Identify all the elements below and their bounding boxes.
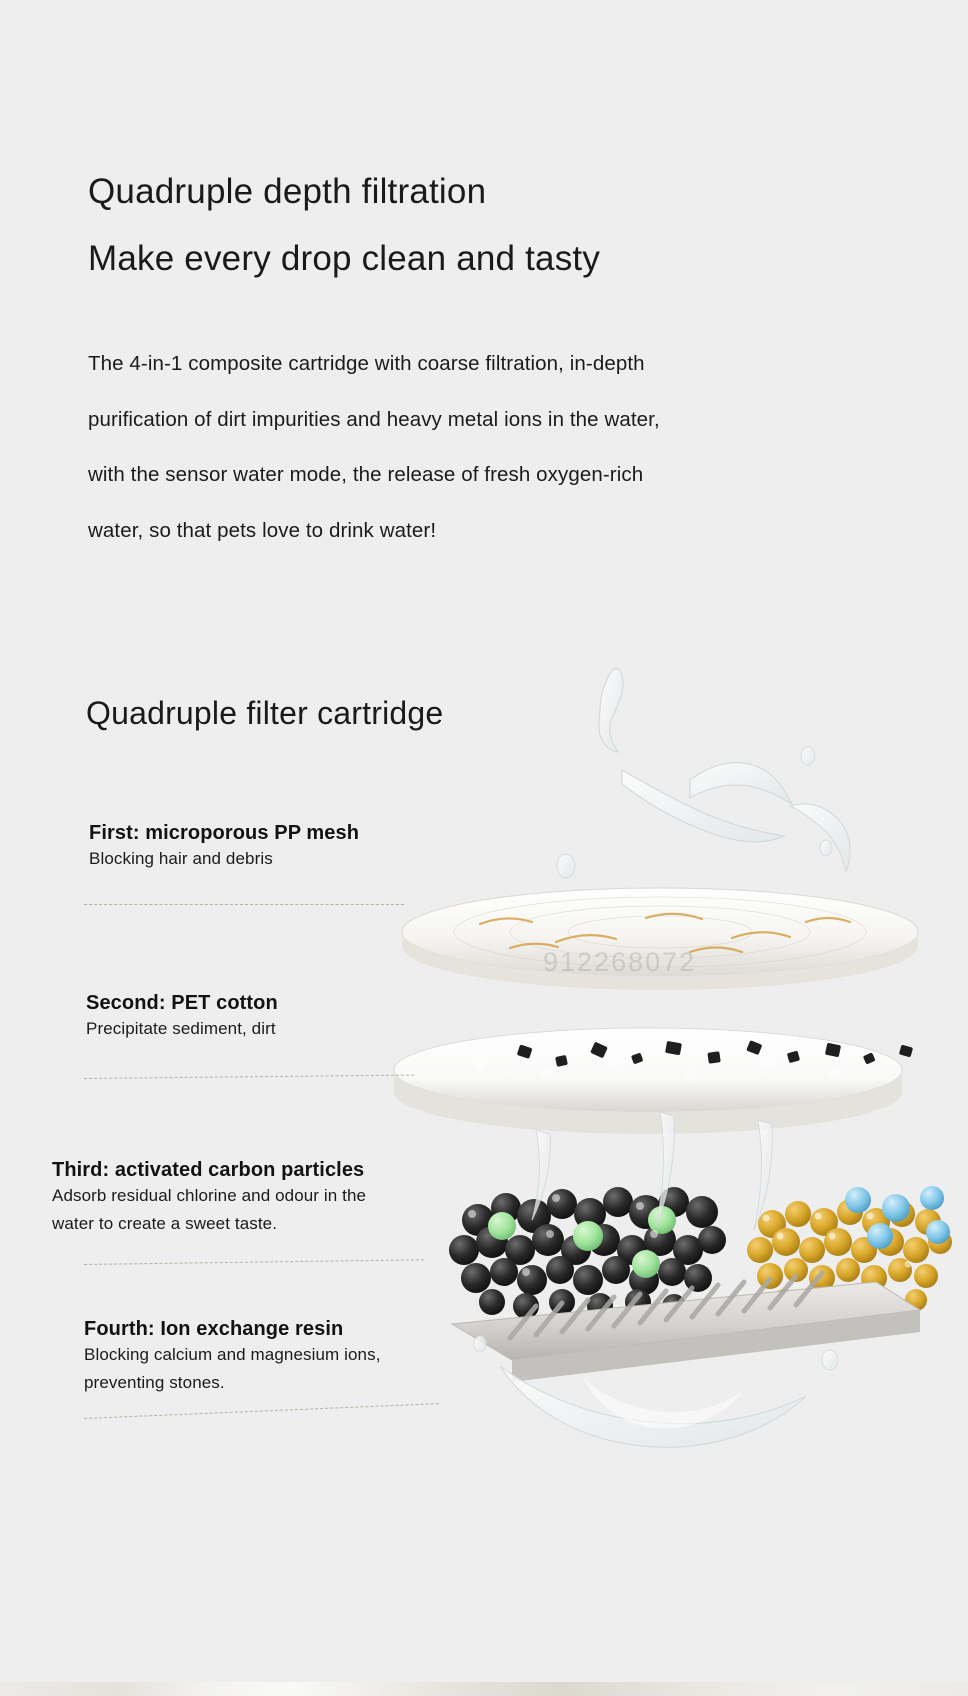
filter-stage-fourth-desc-2: preventing stones.: [84, 1369, 381, 1397]
filter-stage-fourth-desc-1: Blocking calcium and magnesium ions,: [84, 1341, 381, 1369]
filter-stage-second-title: Second: PET cotton: [86, 992, 278, 1015]
filter-stage-third-desc-1: Adsorb residual chlorine and odour in th…: [52, 1182, 366, 1210]
headline-line-2: Make every drop clean and tasty: [88, 225, 888, 292]
section-title-filter-cartridge: Quadruple filter cartridge: [86, 695, 443, 732]
filter-stage-fourth-title: Fourth: Ion exchange resin: [84, 1318, 381, 1341]
bottom-image-strip: [0, 1682, 968, 1696]
intro-line-2: purification of dirt impurities and heav…: [88, 392, 858, 448]
filter-stage-third: Third: activated carbon particles Adsorb…: [52, 1159, 366, 1237]
headline-line-1: Quadruple depth filtration: [88, 158, 888, 225]
intro-line-4: water, so that pets love to drink water!: [88, 503, 858, 559]
pet-cotton-layer: [394, 1028, 913, 1134]
filter-stage-first-desc-1: Blocking hair and debris: [89, 845, 359, 873]
filter-stage-third-title: Third: activated carbon particles: [52, 1159, 366, 1182]
water-splash-top: [557, 668, 850, 878]
pp-mesh-layer: [402, 888, 918, 990]
intro-paragraph: The 4-in-1 composite cartridge with coar…: [88, 336, 858, 558]
headline-block: Quadruple depth filtration Make every dr…: [88, 158, 888, 292]
intro-line-3: with the sensor water mode, the release …: [88, 447, 858, 503]
filter-stage-fourth: Fourth: Ion exchange resin Blocking calc…: [84, 1318, 381, 1396]
filter-stage-second: Second: PET cotton Precipitate sediment,…: [86, 992, 278, 1043]
product-infographic-page: Quadruple depth filtration Make every dr…: [0, 0, 968, 1696]
filter-stage-third-desc-2: water to create a sweet taste.: [52, 1210, 366, 1238]
filter-stage-first-title: First: microporous PP mesh: [89, 822, 359, 845]
filter-stage-first: First: microporous PP mesh Blocking hair…: [89, 822, 359, 873]
filter-stage-second-desc-1: Precipitate sediment, dirt: [86, 1015, 278, 1043]
intro-line-1: The 4-in-1 composite cartridge with coar…: [88, 336, 858, 392]
filter-cartridge-illustration: [360, 660, 968, 1460]
leader-line-first: [84, 904, 404, 905]
